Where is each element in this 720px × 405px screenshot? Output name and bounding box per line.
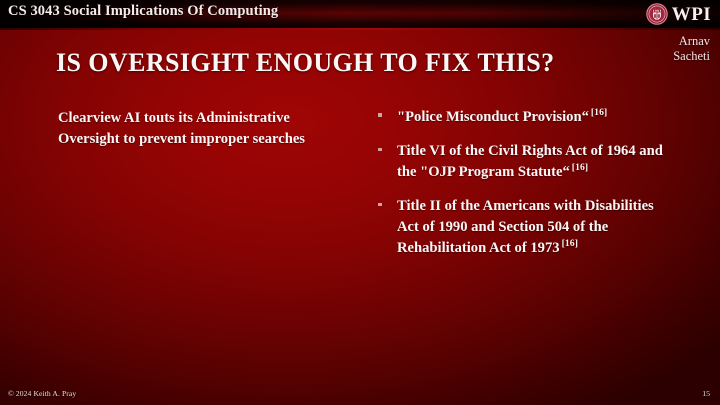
list-item: Title II of the Americans with Disabilit… (375, 196, 675, 259)
wpi-seal-crest-icon (646, 3, 668, 25)
citation-ref: [16] (562, 238, 578, 249)
bullet-dot-icon (378, 148, 382, 152)
author-block: Arnav Sacheti (673, 34, 710, 65)
list-item: "Police Misconduct Provision“[16] (375, 106, 675, 128)
list-item-text: Title II of the Americans with Disabilit… (397, 198, 654, 256)
author-first-name: Arnav (673, 34, 710, 49)
list-item: Title VI of the Civil Rights Act of 1964… (375, 141, 675, 183)
bullet-dot-icon (378, 113, 382, 117)
header-accent-line (0, 28, 720, 30)
list-item-text: "Police Misconduct Provision“ (397, 109, 589, 125)
left-body-text: Clearview AI touts its Administrative Ov… (58, 108, 348, 149)
bullet-dot-icon (378, 203, 382, 207)
presentation-slide: CS 3043 Social Implications Of Computing… (0, 0, 720, 405)
course-title: CS 3043 Social Implications Of Computing (8, 3, 278, 20)
slide-header-bar: CS 3043 Social Implications Of Computing (0, 0, 720, 28)
slide-page-number: 15 (702, 389, 710, 398)
wpi-wordmark: WPI (672, 5, 711, 24)
footer-copyright: © 2024 Keith A. Pray (8, 389, 76, 398)
list-item-text: Title VI of the Civil Rights Act of 1964… (397, 143, 663, 181)
citation-bullet-list: "Police Misconduct Provision“[16] Title … (375, 106, 675, 259)
slide-title: IS OVERSIGHT ENOUGH TO FIX THIS? (56, 48, 555, 78)
citation-ref: [16] (591, 107, 607, 118)
citation-ref: [16] (572, 162, 588, 173)
wpi-logo: WPI (646, 1, 711, 27)
author-last-name: Sacheti (673, 49, 710, 64)
